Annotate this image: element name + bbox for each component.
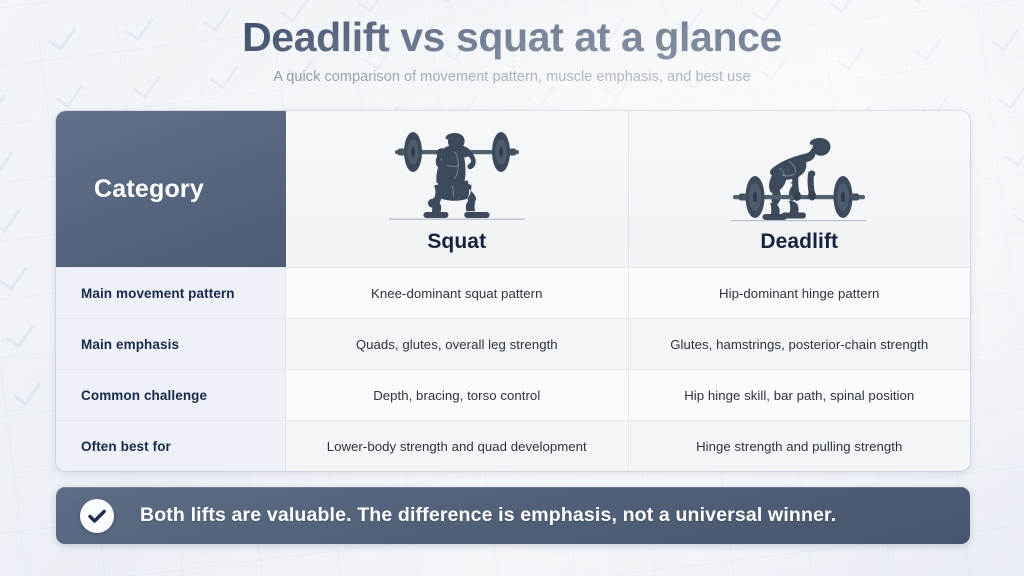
row-value-squat-text: Quads, glutes, overall leg strength [356, 337, 558, 352]
row-value-squat-text: Knee-dominant squat pattern [371, 286, 542, 301]
column-header-deadlift: Deadlift [628, 111, 971, 267]
row-value-squat: Knee-dominant squat pattern [286, 268, 628, 318]
table-row: Common challenge Depth, bracing, torso c… [56, 369, 970, 420]
table-row: Main movement pattern Knee-dominant squa… [56, 267, 970, 318]
check-circle-icon [80, 499, 114, 533]
deadlift-lifter-icon [719, 127, 879, 223]
row-value-squat: Lower-body strength and quad development [286, 421, 628, 471]
summary-banner-text: Both lifts are valuable. The difference … [140, 504, 836, 527]
row-label-cell: Main movement pattern [56, 268, 286, 318]
category-header-cell: Category [56, 111, 286, 267]
column-header-deadlift-label: Deadlift [760, 230, 838, 254]
table-row: Main emphasis Quads, glutes, overall leg… [56, 318, 970, 369]
row-label: Common challenge [81, 388, 207, 403]
row-value-deadlift-text: Glutes, hamstrings, posterior-chain stre… [670, 337, 928, 352]
page-header: Deadlift vs squat at a glance A quick co… [0, 0, 1024, 85]
row-label-cell: Main emphasis [56, 319, 286, 369]
row-label-cell: Common challenge [56, 370, 286, 420]
comparison-table: Category [56, 111, 970, 471]
row-value-squat: Quads, glutes, overall leg strength [286, 319, 628, 369]
page-subtitle: A quick comparison of movement pattern, … [0, 69, 1024, 85]
row-value-deadlift: Hip hinge skill, bar path, spinal positi… [628, 370, 971, 420]
row-value-deadlift: Glutes, hamstrings, posterior-chain stre… [628, 319, 971, 369]
row-value-deadlift: Hip-dominant hinge pattern [628, 268, 971, 318]
table-header-row: Category [56, 111, 970, 267]
category-header-label: Category [94, 175, 204, 204]
row-label: Often best for [81, 439, 171, 454]
page-title: Deadlift vs squat at a glance [0, 14, 1024, 62]
row-label: Main emphasis [81, 337, 179, 352]
column-header-squat: Squat [286, 111, 628, 267]
row-value-squat-text: Depth, bracing, torso control [373, 388, 540, 403]
table-row: Often best for Lower-body strength and q… [56, 420, 970, 471]
row-value-squat-text: Lower-body strength and quad development [327, 439, 587, 454]
row-value-deadlift-text: Hip hinge skill, bar path, spinal positi… [684, 388, 914, 403]
column-header-squat-label: Squat [427, 230, 486, 254]
row-label: Main movement pattern [81, 286, 235, 301]
infographic-page: Deadlift vs squat at a glance A quick co… [0, 0, 1024, 576]
row-label-cell: Often best for [56, 421, 286, 471]
row-value-deadlift: Hinge strength and pulling strength [628, 421, 971, 471]
squat-lifter-icon [377, 127, 537, 223]
summary-banner: Both lifts are valuable. The difference … [56, 487, 970, 544]
row-value-deadlift-text: Hinge strength and pulling strength [696, 439, 902, 454]
row-value-squat: Depth, bracing, torso control [286, 370, 628, 420]
row-value-deadlift-text: Hip-dominant hinge pattern [719, 286, 879, 301]
